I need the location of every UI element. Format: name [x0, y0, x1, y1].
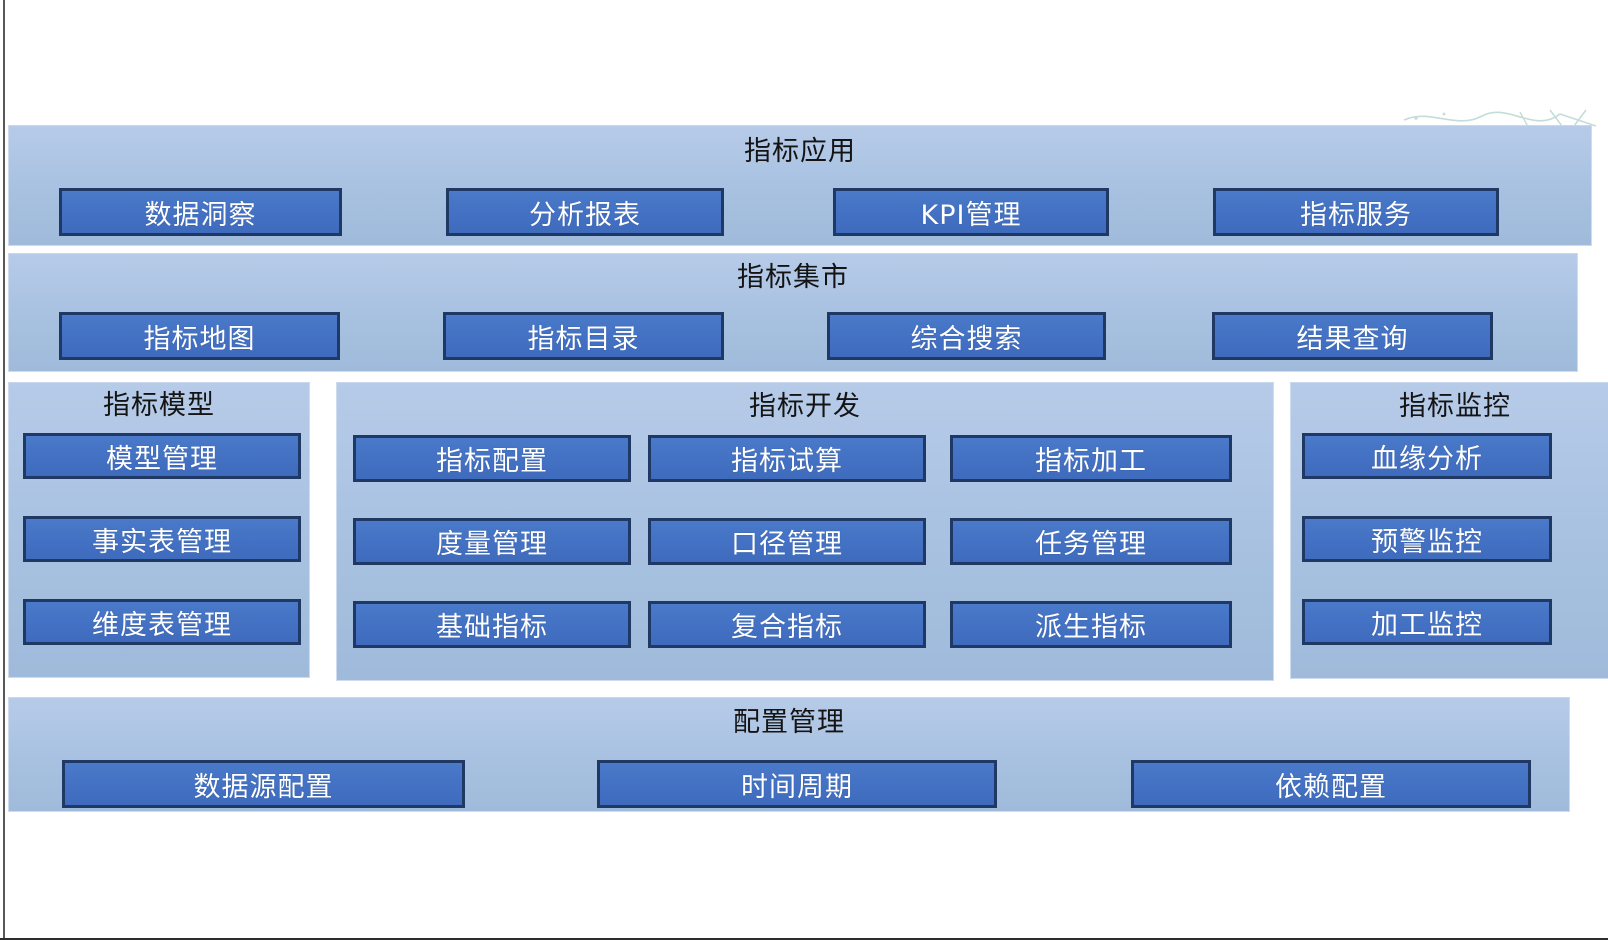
module-button-model-management[interactable]: 模型管理 — [23, 433, 301, 479]
layer-title-development: 指标开发 — [337, 393, 1273, 420]
layer-panel-development: 指标开发 指标配置 指标试算 指标加工 度量管理 口径管理 任务管理 基础指标 … — [336, 382, 1274, 681]
module-button-comprehensive-search[interactable]: 综合搜索 — [827, 312, 1106, 360]
module-button-alert-monitoring[interactable]: 预警监控 — [1302, 516, 1552, 562]
module-button-dependency-configuration[interactable]: 依赖配置 — [1131, 760, 1531, 808]
module-button-metric-map[interactable]: 指标地图 — [59, 312, 340, 360]
layer-panel-configuration: 配置管理 数据源配置 时间周期 依赖配置 — [8, 697, 1570, 812]
module-button-task-management[interactable]: 任务管理 — [950, 518, 1232, 565]
module-button-metric-configuration[interactable]: 指标配置 — [353, 435, 631, 482]
module-button-metric-processing[interactable]: 指标加工 — [950, 435, 1232, 482]
module-button-kpi-management[interactable]: KPI管理 — [833, 188, 1109, 236]
layer-title-configuration: 配置管理 — [9, 709, 1569, 736]
layer-title-application: 指标应用 — [9, 138, 1591, 165]
layer-panel-monitor: 指标监控 血缘分析 预警监控 加工监控 — [1290, 382, 1608, 679]
module-button-lineage-analysis[interactable]: 血缘分析 — [1302, 433, 1552, 479]
module-button-data-insight[interactable]: 数据洞察 — [59, 188, 342, 236]
layer-title-model: 指标模型 — [9, 392, 309, 419]
module-button-metric-catalog[interactable]: 指标目录 — [443, 312, 724, 360]
layer-panel-model: 指标模型 模型管理 事实表管理 维度表管理 — [8, 382, 310, 678]
layer-panel-market: 指标集市 指标地图 指标目录 综合搜索 结果查询 — [8, 253, 1578, 372]
layer-title-market: 指标集市 — [9, 264, 1577, 291]
module-button-measure-management[interactable]: 度量管理 — [353, 518, 631, 565]
module-button-caliber-management[interactable]: 口径管理 — [648, 518, 926, 565]
module-button-result-query[interactable]: 结果查询 — [1212, 312, 1493, 360]
module-button-fact-table-management[interactable]: 事实表管理 — [23, 516, 301, 562]
module-button-basic-metric[interactable]: 基础指标 — [353, 601, 631, 648]
module-button-dimension-table-management[interactable]: 维度表管理 — [23, 599, 301, 645]
layer-title-monitor: 指标监控 — [1291, 393, 1608, 420]
module-button-analysis-report[interactable]: 分析报表 — [446, 188, 724, 236]
page-left-rule — [3, 0, 5, 940]
module-button-time-period[interactable]: 时间周期 — [597, 760, 997, 808]
layer-panel-application: 指标应用 数据洞察 分析报表 KPI管理 指标服务 — [8, 125, 1592, 246]
module-button-processing-monitoring[interactable]: 加工监控 — [1302, 599, 1552, 645]
module-button-derived-metric[interactable]: 派生指标 — [950, 601, 1232, 648]
module-button-composite-metric[interactable]: 复合指标 — [648, 601, 926, 648]
module-button-datasource-configuration[interactable]: 数据源配置 — [62, 760, 465, 808]
module-button-metric-service[interactable]: 指标服务 — [1213, 188, 1499, 236]
module-button-metric-trial-calculation[interactable]: 指标试算 — [648, 435, 926, 482]
